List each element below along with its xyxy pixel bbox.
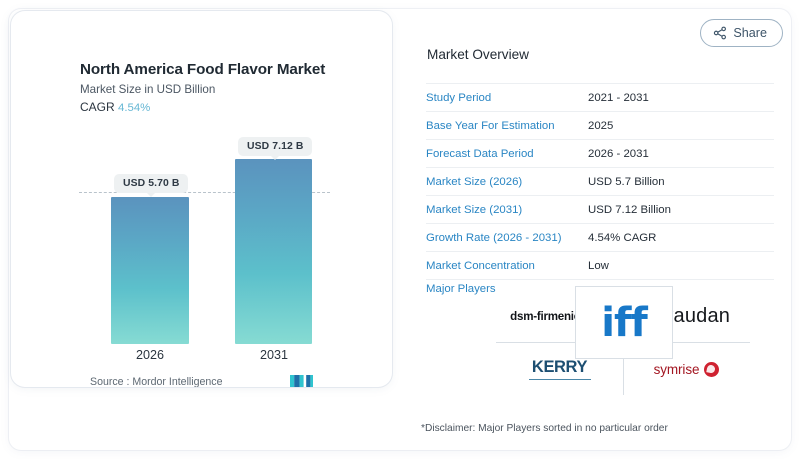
table-row: Market Concentration Low [426,252,774,280]
source-text: Source : Mordor Intelligence [90,376,223,387]
table-row: Market Size (2031) USD 7.12 Billion [426,196,774,224]
row-value: 2021 - 2031 [588,92,649,104]
x-axis-tick-2031: 2031 [229,348,319,362]
row-value: USD 5.7 Billion [588,176,665,188]
row-label: Market Concentration [426,260,588,272]
row-label: Forecast Data Period [426,148,588,160]
disclaimer-text: *Disclaimer: Major Players sorted in no … [421,423,668,434]
market-overview-title: Market Overview [427,47,529,62]
kerry-underline [529,379,591,381]
row-label: Growth Rate (2026 - 2031) [426,232,588,244]
table-row: Market Size (2026) USD 5.7 Billion [426,168,774,196]
table-row: Growth Rate (2026 - 2031) 4.54% CAGR [426,224,774,252]
table-row: Forecast Data Period 2026 - 2031 [426,140,774,168]
row-value: Low [588,260,609,272]
symrise-globe-icon [704,362,719,377]
player-logo-iff: iff [575,286,673,359]
mordor-intelligence-logo [290,374,313,387]
bar-label-2031: USD 7.12 B [238,137,312,156]
row-value: USD 7.12 Billion [588,204,671,216]
bar-2031[interactable] [235,159,312,344]
bars-container [11,11,392,344]
row-label: Study Period [426,92,588,104]
major-players-logos: dsm-firmenich Givaudan KERRY symrise iff [496,290,750,395]
row-value: 2026 - 2031 [588,148,649,160]
iff-wordmark: iff [601,305,647,341]
share-nodes-icon [713,26,727,40]
chart-card: North America Food Flavor Market Market … [11,11,392,387]
row-value: 2025 [588,120,613,132]
row-label: Market Size (2031) [426,204,588,216]
row-label: Market Size (2026) [426,176,588,188]
bar-2026[interactable] [111,197,189,344]
bar-label-2026: USD 5.70 B [114,174,188,193]
bar-chart-plot: USD 5.70 B USD 7.12 B 2026 2031 [11,11,392,387]
kerry-wordmark: KERRY [532,358,587,377]
row-value: 4.54% CAGR [588,232,656,244]
table-row: Study Period 2021 - 2031 [426,83,774,112]
major-players-label: Major Players [426,283,496,295]
market-overview-table: Study Period 2021 - 2031 Base Year For E… [426,83,774,280]
table-row: Base Year For Estimation 2025 [426,112,774,140]
share-button-label: Share [733,26,767,40]
share-button[interactable]: Share [700,19,783,47]
page-root: North America Food Flavor Market Market … [0,0,800,459]
x-axis-tick-2026: 2026 [105,348,195,362]
row-label: Base Year For Estimation [426,120,588,132]
symrise-wordmark: symrise [654,362,700,377]
